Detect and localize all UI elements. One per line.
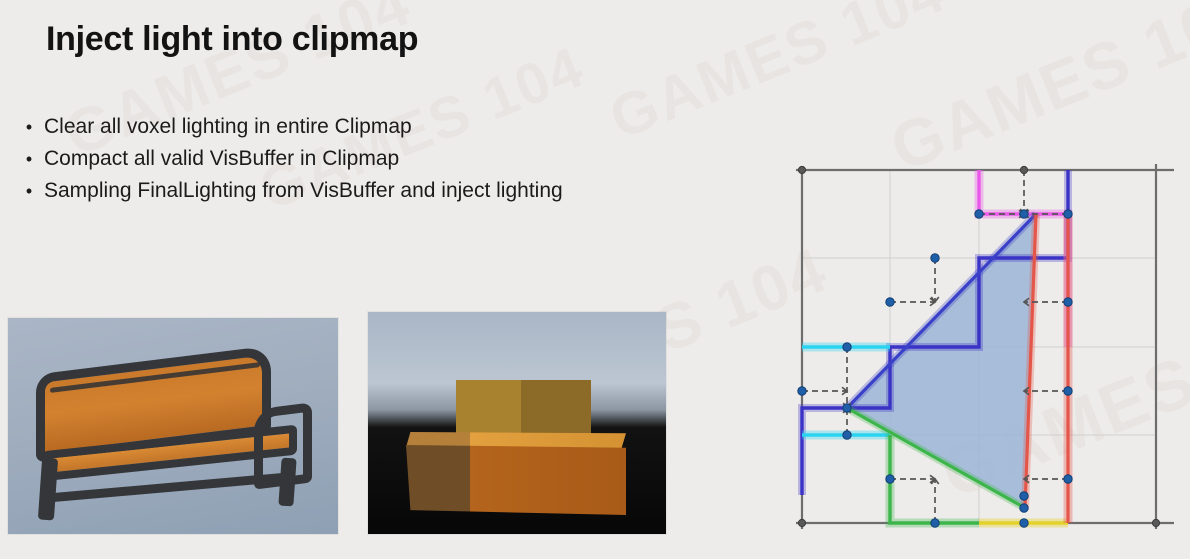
diagram-svg: [780, 150, 1180, 545]
diagram-node: [798, 166, 805, 173]
list-item-label: Clear all voxel lighting in entire Clipm…: [44, 115, 754, 139]
clipmap-injection-diagram: [780, 150, 1180, 545]
diagram-node: [798, 519, 805, 526]
bullet-marker-icon: •: [14, 179, 44, 203]
list-item-label: Compact all valid VisBuffer in Clipmap: [44, 147, 754, 171]
diagram-node: [1064, 298, 1072, 306]
slide-canvas: Inject light into clipmap • Clear all vo…: [0, 0, 1190, 559]
diagram-node: [843, 431, 851, 439]
bench-crossbar: [48, 473, 288, 503]
list-item: • Clear all voxel lighting in entire Cli…: [14, 115, 754, 139]
diagram-node: [1064, 387, 1072, 395]
list-item: • Compact all valid VisBuffer in Clipmap: [14, 147, 754, 171]
diagram-node: [1020, 519, 1028, 527]
bullet-list: • Clear all voxel lighting in entire Cli…: [14, 115, 754, 211]
diagram-node: [931, 519, 939, 527]
diagram-node: [843, 343, 851, 351]
diagram-node: [1020, 492, 1028, 500]
diagram-node: [1064, 475, 1072, 483]
diagram-node: [1020, 504, 1028, 512]
diagram-node: [843, 404, 851, 412]
bench-leg-left: [38, 458, 58, 521]
voxel-seat-front-face: [406, 445, 626, 515]
page-title: Inject light into clipmap: [46, 20, 418, 59]
diagram-node: [1152, 519, 1159, 526]
voxel-backrest-box: [456, 380, 591, 436]
list-item-label: Sampling FinalLighting from VisBuffer an…: [44, 179, 754, 203]
diagram-node: [975, 210, 983, 218]
diagram-node: [1020, 210, 1028, 218]
diagram-node: [1064, 210, 1072, 218]
bullet-marker-icon: •: [14, 115, 44, 139]
list-item: • Sampling FinalLighting from VisBuffer …: [14, 179, 754, 203]
photoreal-bench-render: [8, 318, 338, 534]
bench-leg-right: [278, 458, 296, 507]
diagram-node: [886, 475, 894, 483]
diagram-node: [886, 298, 894, 306]
diagram-node: [1020, 166, 1027, 173]
bullet-marker-icon: •: [14, 147, 44, 171]
diagram-node: [931, 254, 939, 262]
diagram-node: [798, 387, 806, 395]
voxelized-bench-render: [368, 312, 666, 534]
